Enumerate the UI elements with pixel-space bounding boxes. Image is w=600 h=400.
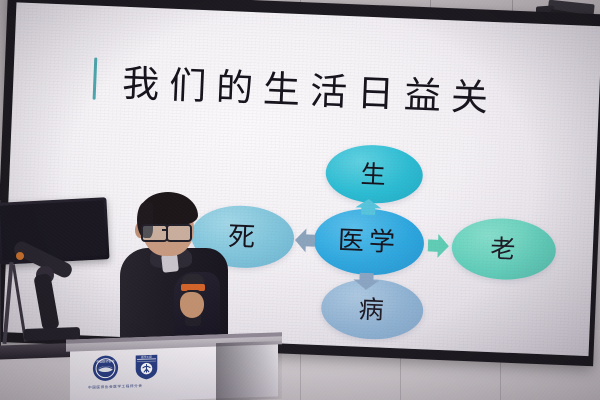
diagram-arrow-up-icon <box>353 198 384 215</box>
diagram-node-center: 医学 <box>313 207 426 277</box>
diagram-arrow-left-icon <box>294 226 315 255</box>
emblem-circle-icon: 中国医师协会 <box>92 354 119 382</box>
diagram-arrow-down-icon <box>351 272 382 290</box>
svg-text:医学工程: 医学工程 <box>141 355 152 359</box>
podium-emblems: 中国医师协会 医学工程 <box>92 353 160 382</box>
diagram-node-right-label: 老 <box>490 236 518 262</box>
diagram-arrow-right-icon <box>427 232 449 260</box>
podium: 中国医师协会 医学工程 中国医师协会医学工程师分会 <box>66 336 282 400</box>
diagram-node-bottom-label: 病 <box>358 296 386 322</box>
emblem-shield-icon: 医学工程 <box>133 353 160 381</box>
glasses-icon <box>141 224 168 242</box>
photo-frame: 我们的生活日益关 生 医学 死 老 <box>0 0 600 400</box>
desk-monitor <box>0 200 114 350</box>
diagram-node-top-label: 生 <box>360 161 388 187</box>
diagram-node-left-label: 死 <box>228 223 258 251</box>
diagram-node-top: 生 <box>325 143 424 205</box>
presenter <box>118 196 230 356</box>
presenter-hand <box>180 292 204 318</box>
diagram-node-center-label: 医学 <box>337 228 400 257</box>
diagram-node-right: 老 <box>451 216 557 281</box>
svg-text:中国医师协会: 中国医师协会 <box>96 358 114 364</box>
